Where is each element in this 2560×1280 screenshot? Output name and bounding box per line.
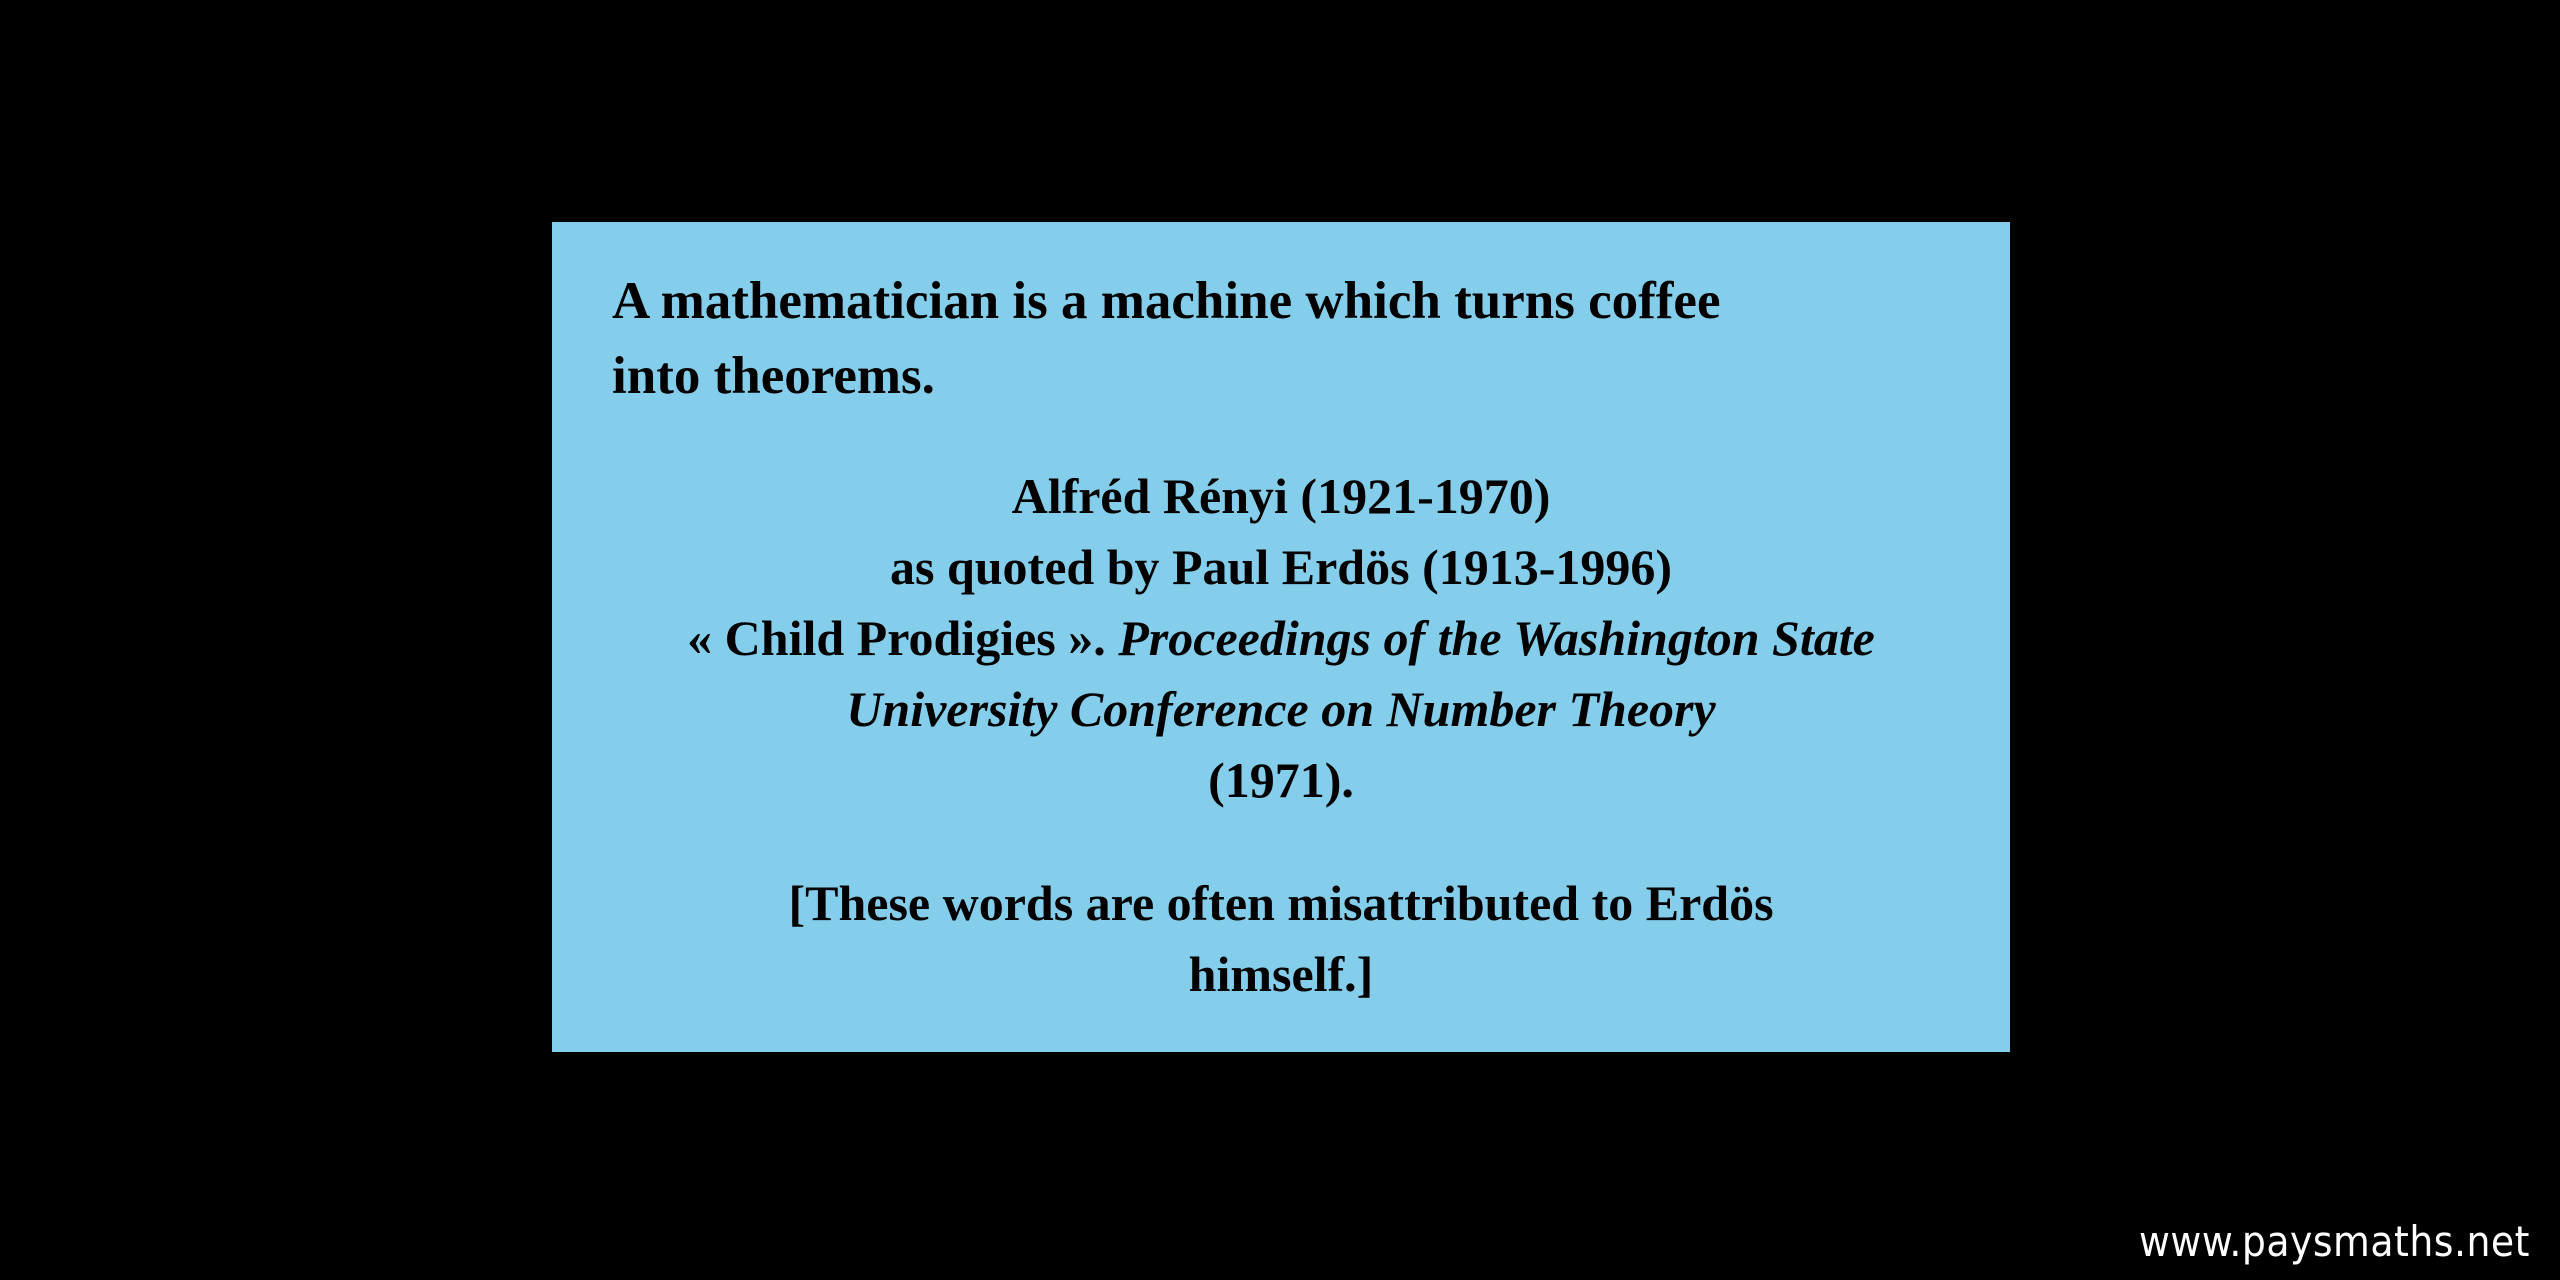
editorial-note-line-1: [These words are often misattributed to … — [598, 868, 1964, 939]
quote-line-2: into theorems. — [612, 339, 1958, 414]
quote-text-block: A mathematician is a machine which turns… — [598, 264, 1964, 415]
quote-card: A mathematician is a machine which turns… — [552, 222, 2010, 1052]
attribution-author: Alfréd Rényi (1921-1970) — [598, 461, 1964, 532]
attribution-quoted-by: as quoted by Paul Erdös (1913-1996) — [598, 532, 1964, 603]
source-article-title: « Child Prodigies ». — [687, 610, 1118, 666]
editorial-note-block: [These words are often misattributed to … — [598, 868, 1964, 1010]
attribution-year: (1971). — [598, 745, 1964, 816]
slide-background: A mathematician is a machine which turns… — [0, 0, 2560, 1280]
site-watermark: www.paysmaths.net — [2139, 1217, 2530, 1266]
attribution-block: Alfréd Rényi (1921-1970) as quoted by Pa… — [598, 461, 1964, 816]
editorial-note-line-2: himself.] — [598, 939, 1964, 1010]
quote-line-1: A mathematician is a machine which turns… — [612, 272, 1720, 330]
attribution-source: « Child Prodigies ». Proceedings of the … — [598, 603, 1964, 745]
